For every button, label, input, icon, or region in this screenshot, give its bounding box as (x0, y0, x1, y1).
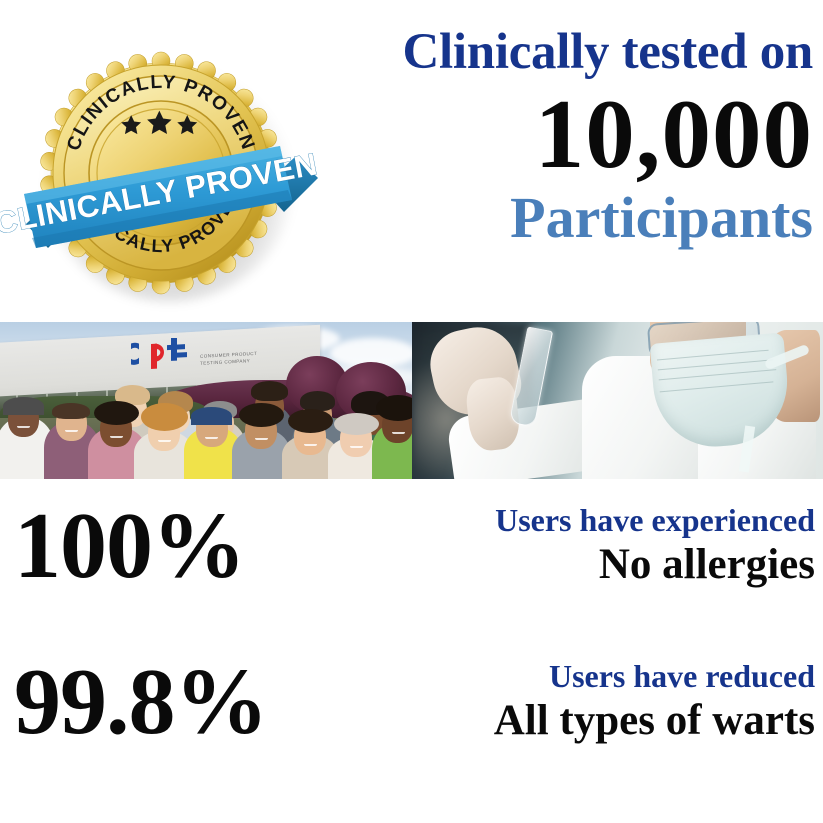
photo-band: CONSUMER PRODUCT TESTING COMPANY (0, 322, 823, 479)
stat-title-all-types-of-warts: All types of warts (345, 697, 815, 745)
person-hair (300, 391, 335, 411)
stat-value-99-8-percent: 99.8% (14, 655, 364, 749)
person-hair (288, 409, 333, 433)
person-hair (251, 381, 288, 401)
person-hair (334, 413, 379, 435)
headline-participants-label: Participants (213, 188, 813, 247)
person-hair (376, 395, 412, 421)
person-hair (141, 403, 188, 431)
header-section: CLINICALLY PROVEN CLINICALLY PROVEN (0, 0, 823, 322)
person-hair (94, 401, 139, 425)
stat-text-allergies: Users have experienced No allergies (345, 503, 815, 589)
diverse-participants-group-photo: CONSUMER PRODUCT TESTING COMPANY (0, 322, 412, 479)
statistics-section: 100% Users have experienced No allergies… (0, 479, 823, 823)
headline-clinically-tested: Clinically tested on (213, 26, 813, 79)
stat-subtitle-users-reduced: Users have reduced (345, 659, 815, 695)
person-hat (3, 397, 44, 415)
lab-scientist-test-tube-photo (412, 322, 823, 479)
stat-value-100-percent: 100% (14, 499, 364, 593)
person-hair (239, 403, 284, 427)
cpt-logo-icon (131, 338, 195, 372)
stat-subtitle-users-experienced: Users have experienced (345, 503, 815, 539)
person-hair (52, 403, 90, 419)
stat-text-warts: Users have reduced All types of warts (345, 659, 815, 745)
header-text-block: Clinically tested on 10,000 Participants (213, 26, 813, 247)
headline-participant-count: 10,000 (213, 85, 813, 186)
person-turban (191, 407, 232, 425)
stat-title-no-allergies: No allergies (345, 541, 815, 589)
clinical-claims-infographic: CLINICALLY PROVEN CLINICALLY PROVEN (0, 0, 823, 823)
